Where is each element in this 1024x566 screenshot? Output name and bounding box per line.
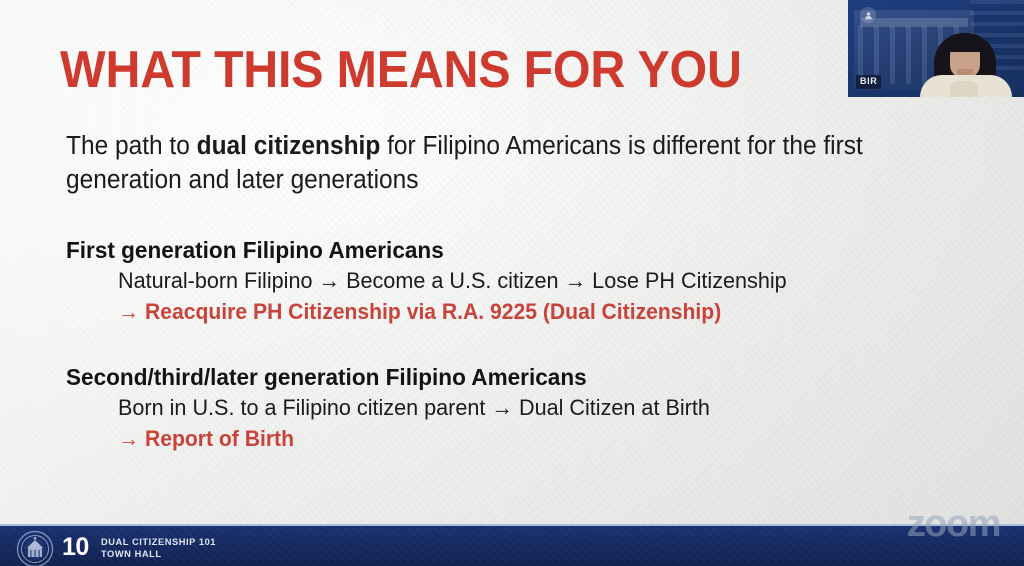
government-seal-icon [16,530,54,566]
intro-text-bold: dual citizenship [197,132,381,160]
person-collar [950,81,978,97]
slide-footer-bar: 10 DUAL CITIZENSHIP 101 TOWN HALL [0,524,1024,566]
participant-video-tile[interactable]: BIR [848,0,1024,97]
intro-text-part-1: The path to [66,132,197,160]
footer-meta-line-2: TOWN HALL [101,549,216,561]
person-hair-front [947,36,983,52]
participant-name-label: BIR [856,75,881,89]
block-body-line: Natural-born Filipino → Become a U.S. ci… [118,265,787,296]
block-accent-line: → Reacquire PH Citizenship via R.A. 9225… [118,296,787,327]
block-heading: Second/third/later generation Filipino A… [66,362,708,392]
participant-badge-icon [860,7,876,23]
footer-meta: DUAL CITIZENSHIP 101 TOWN HALL [101,537,216,560]
block-heading: First generation Filipino Americans [66,235,785,265]
slide-page-number: 10 [62,533,89,562]
content-block-first-generation: First generation Filipino Americans Natu… [66,235,815,327]
block-accent-line: → Report of Birth [118,423,710,454]
participant-person [914,33,1018,97]
footer-meta-line-1: DUAL CITIZENSHIP 101 [101,537,216,549]
content-block-later-generation: Second/third/later generation Filipino A… [66,362,735,454]
intro-paragraph: The path to dual citizenship for Filipin… [66,129,920,197]
zoom-presentation-screen: WHAT THIS MEANS FOR YOU The path to dual… [0,0,1024,566]
page-title: WHAT THIS MEANS FOR YOU [60,44,742,96]
block-body-line: Born in U.S. to a Filipino citizen paren… [118,392,710,423]
